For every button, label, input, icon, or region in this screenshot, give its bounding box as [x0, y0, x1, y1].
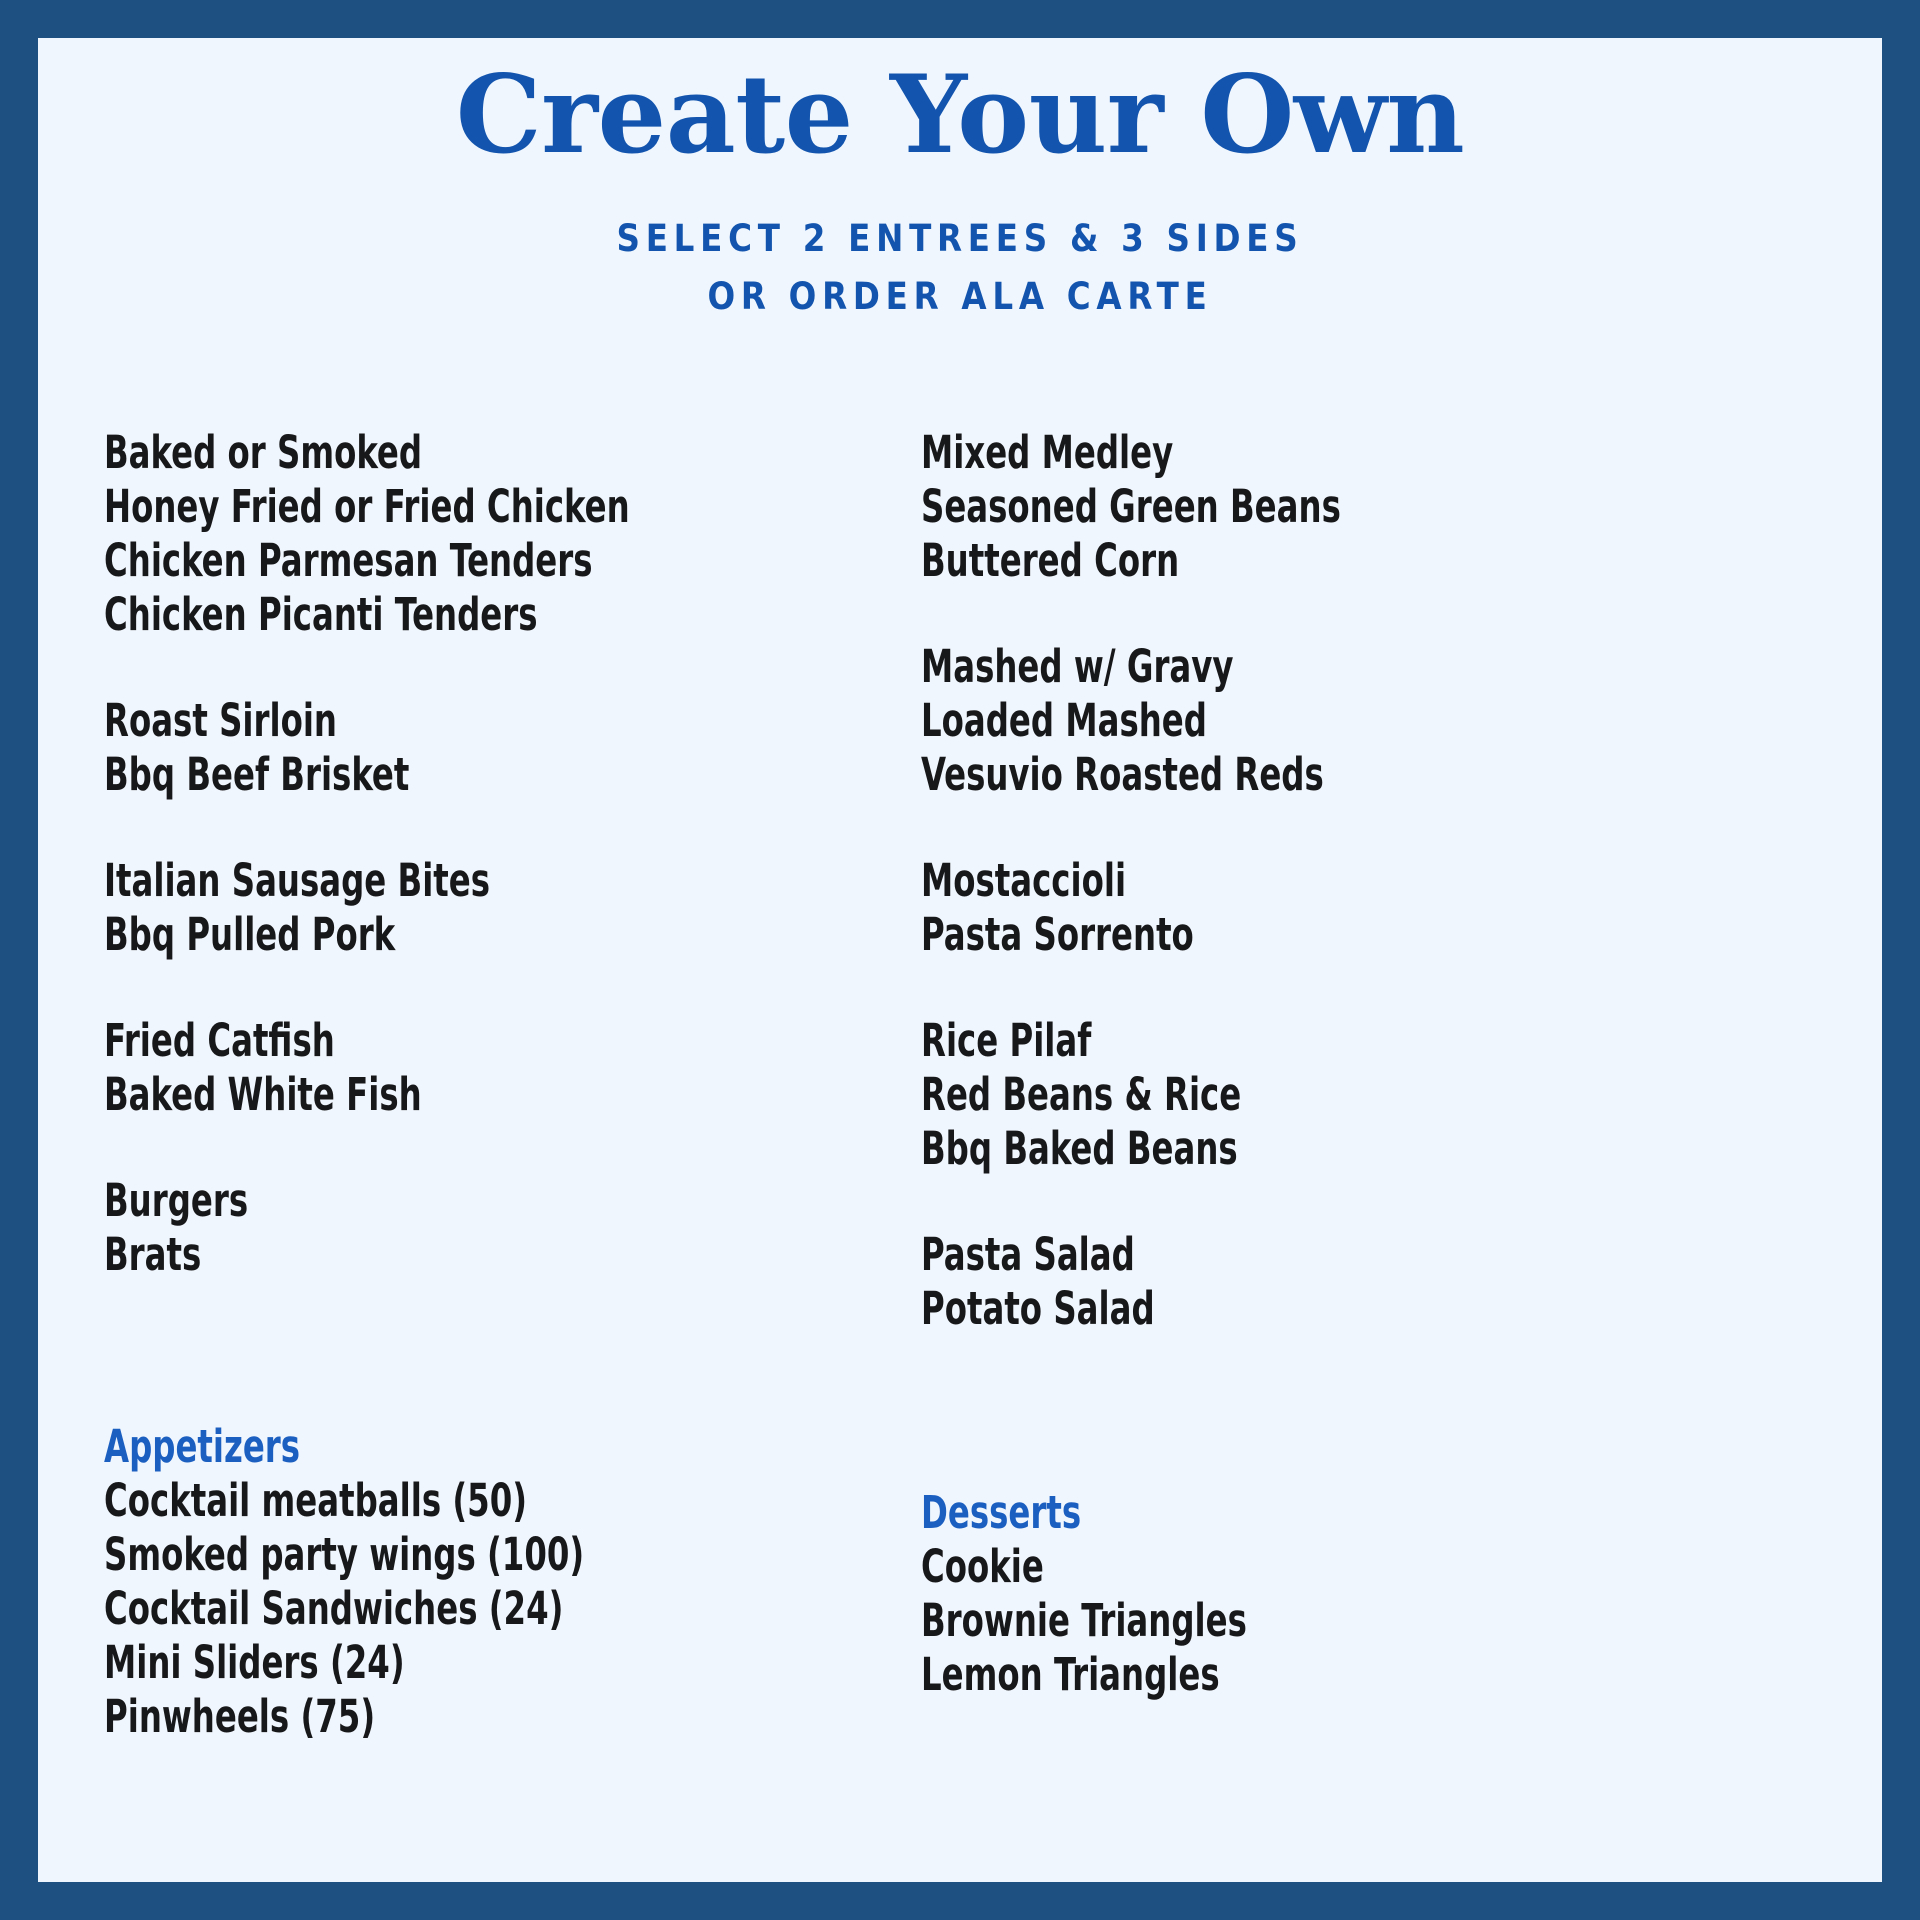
- menu-columns: Baked or Smoked Honey Fried or Fried Chi…: [38, 426, 1882, 1744]
- menu-item: Brats: [104, 1228, 735, 1282]
- menu-item: Red Beans & Rice: [921, 1068, 1619, 1122]
- subtitle-block: SELECT 2 ENTREES & 3 SIDES OR ORDER ALA …: [38, 210, 1882, 325]
- menu-item: Mixed Medley: [921, 426, 1619, 480]
- spacer: [104, 1282, 893, 1420]
- subtitle-line-2: OR ORDER ALA CARTE: [149, 268, 1772, 325]
- menu-item: Rice Pilaf: [921, 1014, 1619, 1068]
- subtitle-line-1: SELECT 2 ENTREES & 3 SIDES: [149, 210, 1772, 267]
- menu-item: Pasta Salad: [921, 1228, 1619, 1282]
- menu-item: Seasoned Green Beans: [921, 480, 1619, 534]
- menu-item: Baked White Fish: [104, 1068, 735, 1122]
- spacer: [921, 1336, 1793, 1486]
- menu-item: Vesuvio Roasted Reds: [921, 748, 1619, 802]
- menu-card: Create Your Own SELECT 2 ENTREES & 3 SID…: [38, 38, 1882, 1882]
- menu-item: Chicken Picanti Tenders: [104, 588, 735, 642]
- menu-item: Cookie: [921, 1540, 1619, 1594]
- entrees-column: Baked or Smoked Honey Fried or Fried Chi…: [38, 426, 893, 1744]
- menu-item: Smoked party wings (100): [104, 1528, 735, 1582]
- sides-column: Mixed Medley Seasoned Green Beans Butter…: [893, 426, 1793, 1702]
- menu-item: Cocktail meatballs (50): [104, 1474, 735, 1528]
- side-group-rice-beans: Rice Pilaf Red Beans & Rice Bbq Baked Be…: [921, 1014, 1793, 1176]
- menu-item: Burgers: [104, 1174, 735, 1228]
- appetizers-heading: Appetizers: [104, 1420, 735, 1474]
- menu-item: Mostaccioli: [921, 854, 1619, 908]
- entree-group-pork: Italian Sausage Bites Bbq Pulled Pork: [104, 854, 893, 962]
- menu-item: Potato Salad: [921, 1282, 1619, 1336]
- entree-group-beef: Roast Sirloin Bbq Beef Brisket: [104, 694, 893, 802]
- menu-item: Lemon Triangles: [921, 1648, 1619, 1702]
- entree-group-fish: Fried Catfish Baked White Fish: [104, 1014, 893, 1122]
- menu-item: Mini Sliders (24): [104, 1636, 735, 1690]
- menu-item: Fried Catfish: [104, 1014, 735, 1068]
- menu-item: Italian Sausage Bites: [104, 854, 735, 908]
- side-group-salads: Pasta Salad Potato Salad: [921, 1228, 1793, 1336]
- menu-item: Brownie Triangles: [921, 1594, 1619, 1648]
- menu-item: Buttered Corn: [921, 534, 1619, 588]
- menu-item: Bbq Baked Beans: [921, 1122, 1619, 1176]
- menu-item: Cocktail Sandwiches (24): [104, 1582, 735, 1636]
- menu-item: Roast Sirloin: [104, 694, 735, 748]
- desserts-section: Desserts Cookie Brownie Triangles Lemon …: [921, 1486, 1793, 1702]
- side-group-vegetables: Mixed Medley Seasoned Green Beans Butter…: [921, 426, 1793, 588]
- desserts-heading: Desserts: [921, 1486, 1619, 1540]
- menu-item: Pasta Sorrento: [921, 908, 1619, 962]
- page-title: Create Your Own: [38, 60, 1882, 170]
- appetizers-section: Appetizers Cocktail meatballs (50) Smoke…: [104, 1420, 893, 1744]
- menu-item: Loaded Mashed: [921, 694, 1619, 748]
- menu-item: Bbq Pulled Pork: [104, 908, 735, 962]
- menu-item: Honey Fried or Fried Chicken: [104, 480, 735, 534]
- side-group-pasta: Mostaccioli Pasta Sorrento: [921, 854, 1793, 962]
- menu-item: Mashed w/ Gravy: [921, 640, 1619, 694]
- menu-header: Create Your Own SELECT 2 ENTREES & 3 SID…: [38, 38, 1882, 325]
- entree-group-grill: Burgers Brats: [104, 1174, 893, 1282]
- side-group-potatoes: Mashed w/ Gravy Loaded Mashed Vesuvio Ro…: [921, 640, 1793, 802]
- entree-group-chicken: Baked or Smoked Honey Fried or Fried Chi…: [104, 426, 893, 642]
- menu-item: Pinwheels (75): [104, 1690, 735, 1744]
- menu-item: Bbq Beef Brisket: [104, 748, 735, 802]
- menu-item: Chicken Parmesan Tenders: [104, 534, 735, 588]
- menu-item: Baked or Smoked: [104, 426, 735, 480]
